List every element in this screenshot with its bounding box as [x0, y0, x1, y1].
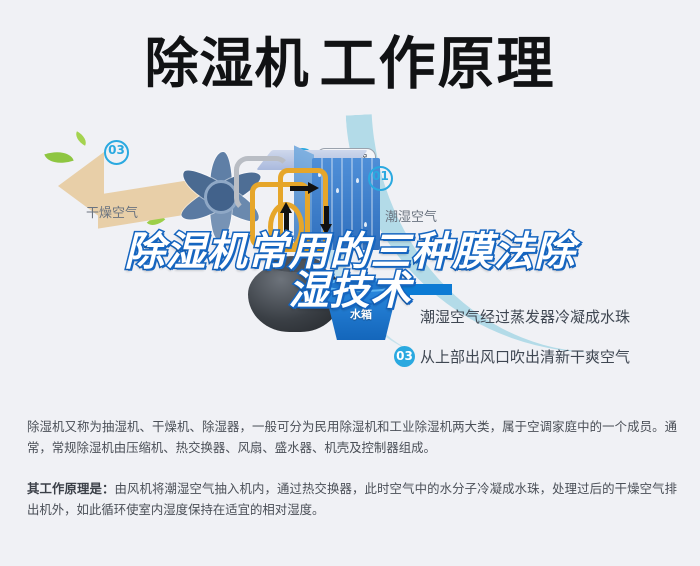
dehumidifier-diagram: 03 干燥空气 02 热交换器 — [0, 112, 700, 392]
article-body: 除湿机又称为抽湿机、干燥机、除湿器，一般可分为民用除湿机和工业除湿机两大类，属于… — [27, 416, 677, 520]
water-tank-icon: 水箱 — [318, 278, 404, 340]
flow-arrow-down-icon — [320, 224, 332, 235]
flow-arrow-up-icon — [280, 202, 292, 213]
page-title-part1: 除湿机 — [145, 37, 310, 91]
water-tank-label: 水箱 — [318, 306, 404, 322]
page-title-part2: 工作原理 — [320, 36, 556, 93]
article-paragraph-2-rest: 由风机将潮湿空气抽入机内，通过热交换器，此时空气中的水分子冷凝成水珠，处理过后的… — [27, 481, 677, 517]
flow-arrow-stem — [284, 212, 289, 232]
article-paragraph-2-lead: 其工作原理是： — [27, 481, 115, 496]
arrow-shaft — [408, 284, 452, 295]
caption-step-03: 从上部出风口吹出清新干爽空气 — [420, 346, 630, 367]
article-paragraph-2: 其工作原理是：由风机将潮湿空气抽入机内，通过热交换器，此时空气中的水分子冷凝成水… — [27, 478, 677, 520]
flow-arrow-stem — [324, 206, 329, 226]
flow-arrow-right-icon — [308, 182, 319, 194]
page-title: 除湿机 工作原理 — [0, 26, 700, 102]
fan-hub — [204, 180, 238, 214]
water-tank-rim-inner — [328, 281, 394, 290]
compressor-cap — [268, 256, 322, 272]
caption-badge-03: 03 — [394, 346, 415, 367]
dry-air-label: 干燥空气 — [86, 202, 138, 221]
step-badge-03-left: 03 — [104, 140, 129, 165]
humid-air-label: 潮湿空气 — [385, 206, 437, 225]
flow-arrow-stem — [290, 186, 310, 191]
step-badge-01: 01 — [368, 166, 393, 191]
page-root: 除湿机 工作原理 03 干燥空气 02 — [0, 0, 700, 566]
article-paragraph-1: 除湿机又称为抽湿机、干燥机、除湿器，一般可分为民用除湿机和工业除湿机两大类，属于… — [27, 416, 677, 458]
caption-step-02: 潮湿空气经过蒸发器冷凝成水珠 — [420, 306, 630, 327]
